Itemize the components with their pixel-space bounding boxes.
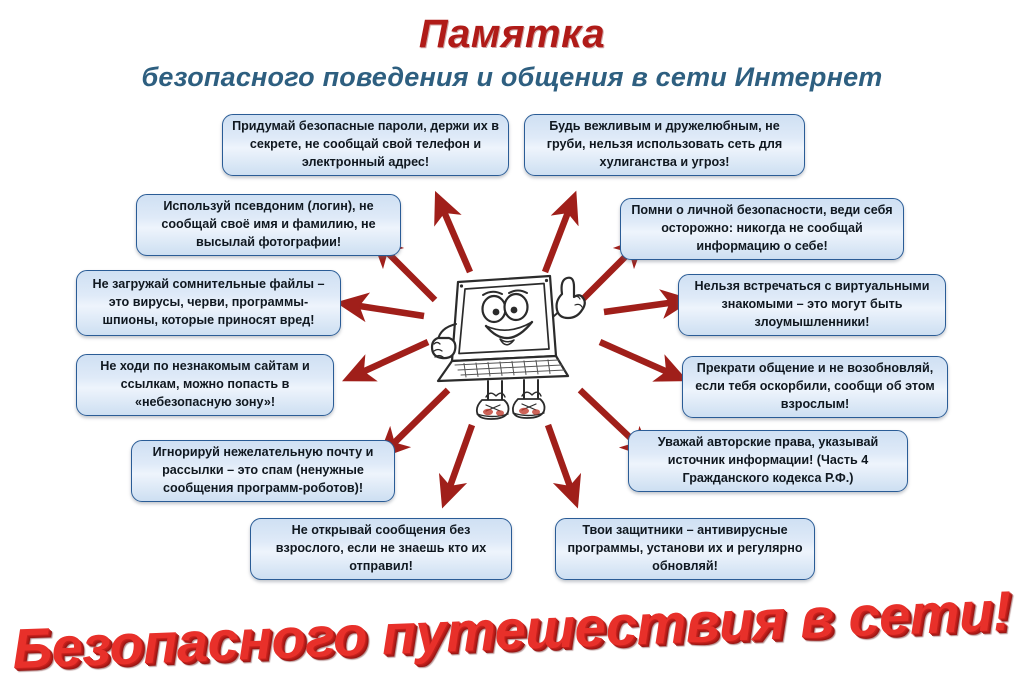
- tip-box-antivirus[interactable]: Твои защитники – антивирусные программы,…: [555, 518, 815, 580]
- tip-text: Используй псевдоним (логин), не сообщай …: [146, 198, 391, 252]
- tip-text: Помни о личной безопасности, веди себя о…: [630, 202, 894, 256]
- tip-box-copyright[interactable]: Уважай авторские права, указывай источни…: [628, 430, 908, 492]
- arrow-up-right: [545, 207, 570, 272]
- bottom-banner-text: Безопасного путешествия в сети!: [12, 577, 1013, 680]
- tip-box-no-meetings[interactable]: Нельзя встречаться с виртуальными знаком…: [678, 274, 946, 336]
- tip-text: Не открывай сообщения без взрослого, есл…: [260, 522, 502, 576]
- poster-root: Памятка безопасного поведения и общения …: [0, 0, 1024, 682]
- tip-box-dont-open-messages[interactable]: Не открывай сообщения без взрослого, есл…: [250, 518, 512, 580]
- tip-box-be-polite[interactable]: Будь вежливым и дружелюбным, не груби, н…: [524, 114, 805, 176]
- page-title: Памятка: [0, 12, 1024, 57]
- tip-text: Нельзя встречаться с виртуальными знаком…: [688, 278, 936, 332]
- tip-box-stop-communication[interactable]: Прекрати общение и не возобновляй, если …: [682, 356, 948, 418]
- computer-mascot-icon: [428, 264, 600, 424]
- arrow-right: [604, 302, 676, 312]
- tip-text: Уважай авторские права, указывай источни…: [638, 434, 898, 488]
- tip-text: Твои защитники – антивирусные программы,…: [565, 522, 805, 576]
- tip-text: Придумай безопасные пароли, держи их в с…: [232, 118, 499, 172]
- tip-box-passwords[interactable]: Придумай безопасные пароли, держи их в с…: [222, 114, 509, 176]
- page-subtitle: безопасного поведения и общения в сети И…: [0, 62, 1024, 93]
- bottom-banner: Безопасного путешествия в сети!: [0, 586, 1024, 672]
- tip-text: Прекрати общение и не возобновляй, если …: [692, 360, 938, 414]
- tip-box-ignore-spam[interactable]: Игнорируй нежелательную почту и рассылки…: [131, 440, 395, 502]
- tip-box-personal-safety[interactable]: Помни о личной безопасности, веди себя о…: [620, 198, 904, 260]
- tip-box-unknown-sites[interactable]: Не ходи по незнакомым сайтам и ссылкам, …: [76, 354, 334, 416]
- tip-box-use-nickname[interactable]: Используй псевдоним (логин), не сообщай …: [136, 194, 401, 256]
- arrow-down-left: [448, 425, 472, 492]
- arrow-right-down: [600, 342, 672, 374]
- tip-text: Не ходи по незнакомым сайтам и ссылкам, …: [86, 358, 324, 412]
- tip-text: Будь вежливым и дружелюбным, не груби, н…: [534, 118, 795, 172]
- arrow-up-left: [442, 207, 470, 272]
- arrow-left: [353, 305, 424, 316]
- tip-box-no-downloads[interactable]: Не загружай сомнительные файлы – это вир…: [76, 270, 341, 336]
- tip-text: Игнорируй нежелательную почту и рассылки…: [141, 444, 385, 498]
- tip-text: Не загружай сомнительные файлы – это вир…: [86, 276, 331, 330]
- arrow-down-right: [548, 425, 572, 492]
- arrow-left-down: [358, 342, 428, 374]
